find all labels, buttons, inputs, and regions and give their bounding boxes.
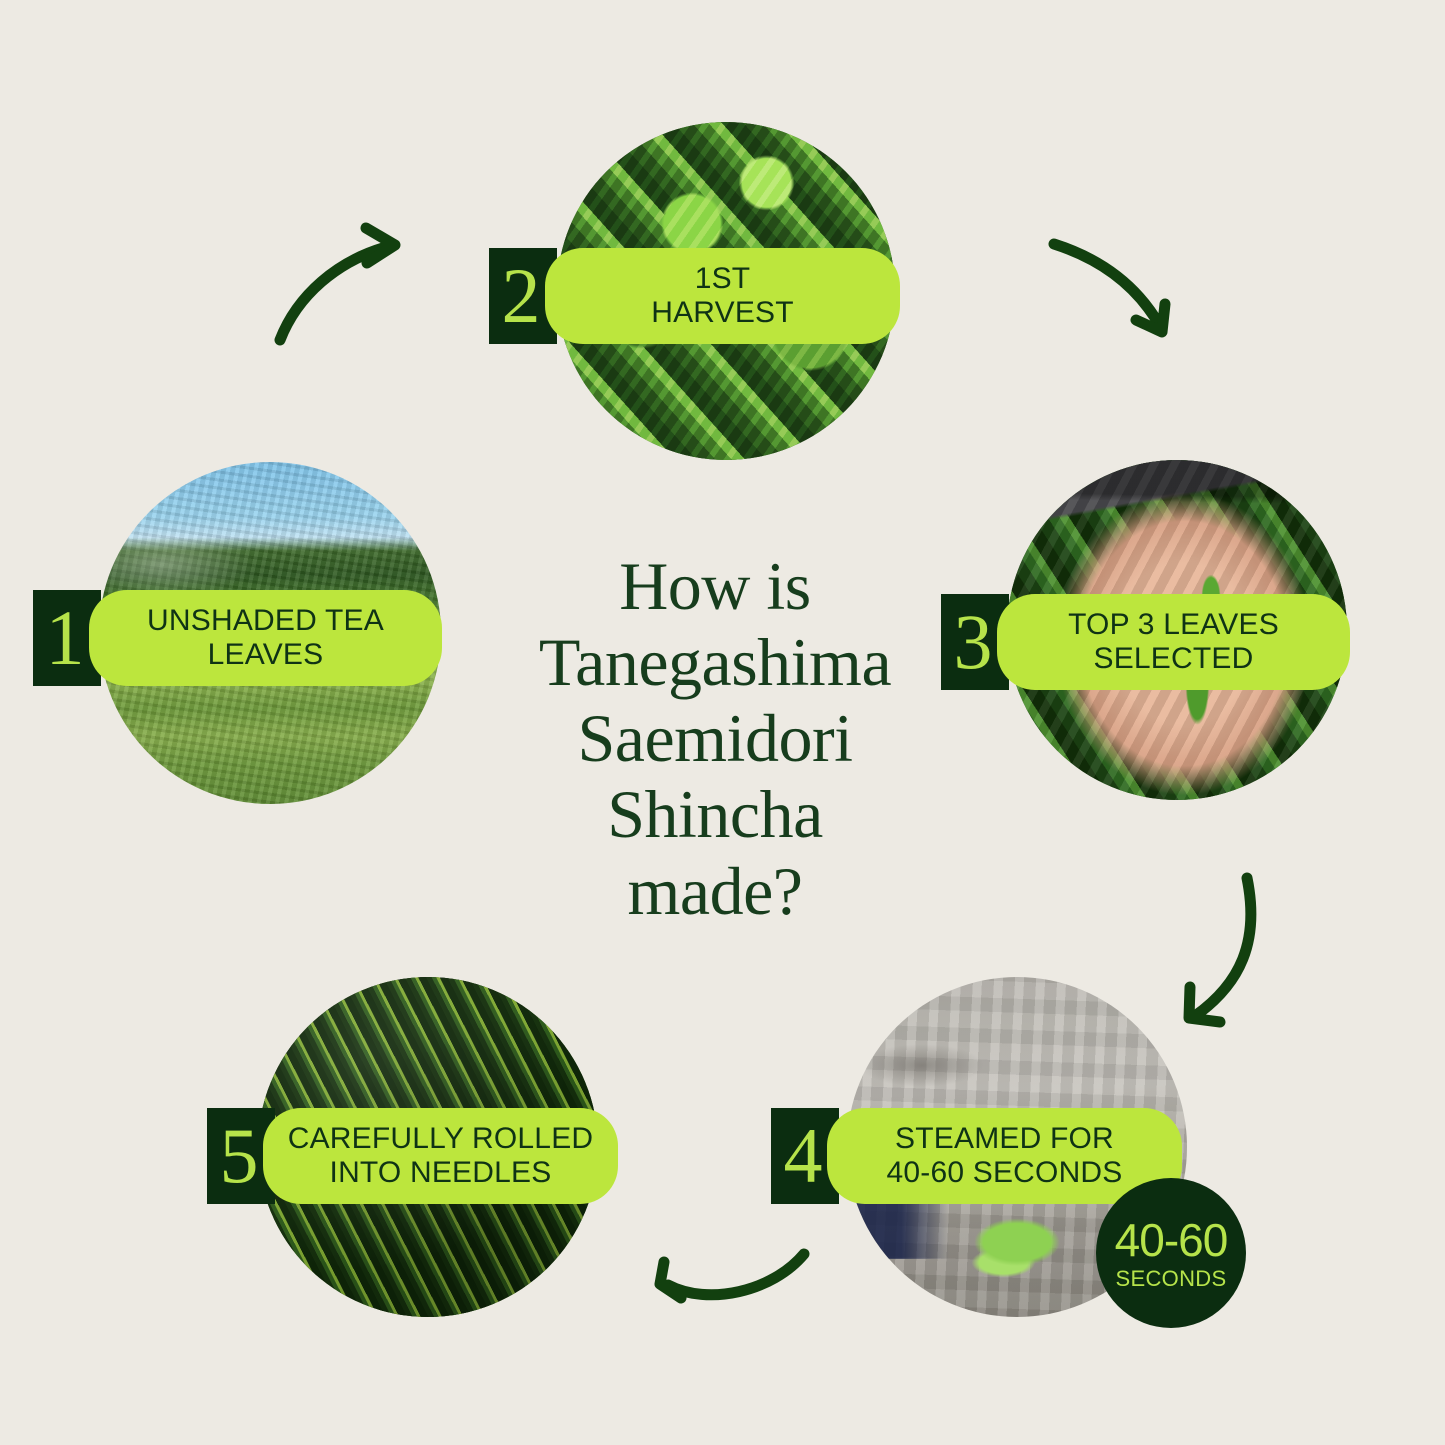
page-title: How is Tanegashima Saemidori Shincha mad… <box>455 548 975 929</box>
step-4-label: STEAMED FOR 40-60 SECONDS <box>827 1122 1182 1189</box>
arrow-2-to-3-icon <box>1040 222 1215 352</box>
arrow-4-to-5-icon <box>636 1232 821 1337</box>
infographic-canvas: 2 1ST HARVEST 1 UNSHADED TEA LEAVES 3 TO… <box>0 0 1445 1445</box>
arrow-3-to-4-icon <box>1148 850 1328 1060</box>
arrow-1-to-2-icon <box>262 218 432 353</box>
step-5-label: CAREFULLY ROLLED INTO NEEDLES <box>263 1122 618 1189</box>
steaming-time-badge: 40-60 SECONDS <box>1096 1178 1246 1328</box>
step-3-number: 3 <box>954 603 993 681</box>
step-3-label-band: TOP 3 LEAVES SELECTED <box>997 594 1350 690</box>
badge-unit: SECONDS <box>1116 1268 1227 1290</box>
step-2-label: 1ST HARVEST <box>545 262 900 329</box>
step-5-label-band: CAREFULLY ROLLED INTO NEEDLES <box>263 1108 618 1204</box>
step-3-label: TOP 3 LEAVES SELECTED <box>997 608 1350 675</box>
step-4-number: 4 <box>784 1117 823 1195</box>
step-1-number: 1 <box>46 599 85 677</box>
badge-value: 40-60 <box>1115 1217 1228 1263</box>
step-1-label: UNSHADED TEA LEAVES <box>89 604 442 671</box>
step-5-number: 5 <box>220 1117 259 1195</box>
step-2-number: 2 <box>502 257 541 335</box>
step-1-label-band: UNSHADED TEA LEAVES <box>89 590 442 686</box>
step-2-label-band: 1ST HARVEST <box>545 248 900 344</box>
